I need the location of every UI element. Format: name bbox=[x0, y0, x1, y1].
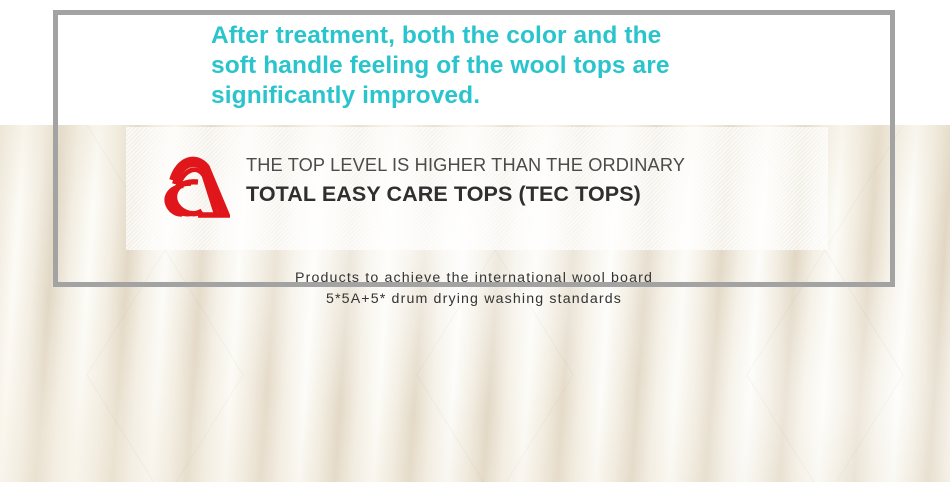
brand-tagline: THE TOP LEVEL IS HIGHER THAN THE ORDINAR… bbox=[246, 153, 766, 178]
page-title: After treatment, both the color and the … bbox=[211, 21, 831, 111]
tec-tops-wave-logo-icon bbox=[158, 150, 230, 220]
brand-title: TOTAL EASY CARE TOPS (TEC TOPS) bbox=[246, 180, 766, 208]
standards-caption: Products to achieve the international wo… bbox=[53, 268, 895, 310]
brand-row: THE TOP LEVEL IS HIGHER THAN THE ORDINAR… bbox=[158, 150, 758, 222]
promo-banner-image: After treatment, both the color and the … bbox=[0, 0, 950, 482]
brand-text-block: THE TOP LEVEL IS HIGHER THAN THE ORDINAR… bbox=[246, 153, 766, 208]
